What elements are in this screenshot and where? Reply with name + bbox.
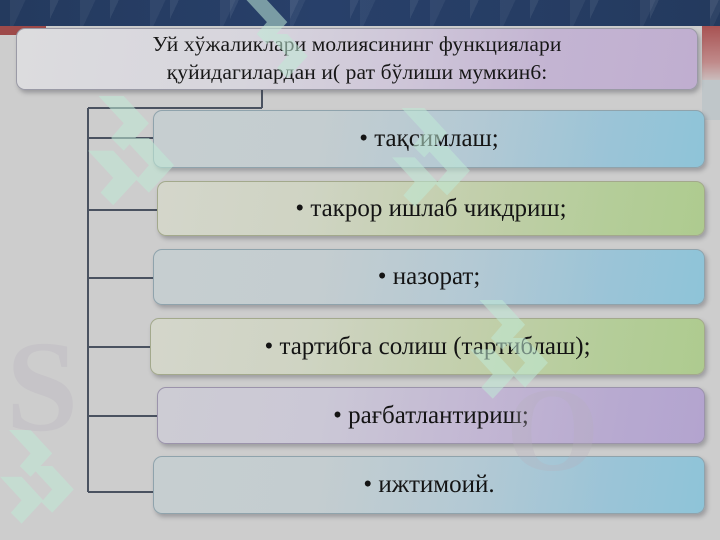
diagram-item-label-6: • ижтимоий. <box>165 471 693 499</box>
diagram-item-node-5[interactable]: • рағбатлантириш; <box>157 387 705 444</box>
diagram-item-label-5: • рағбатлантириш; <box>169 402 693 430</box>
diagram-item-node-4[interactable]: • тартибга солиш (тартиблаш); <box>150 318 705 375</box>
diagram-item-label-1: • тақсимлаш; <box>165 125 693 153</box>
diagram-title-node: Уй хўжаликлари молиясининг функциялари қ… <box>16 28 698 90</box>
diagram-item-label-4: • тартибга солиш (тартиблаш); <box>162 333 693 361</box>
diagram-item-node-1[interactable]: • тақсимлаш; <box>153 110 705 168</box>
diagram-item-label-2: • такрор ишлаб чикдриш; <box>169 195 693 223</box>
diagram-title-line-1: Уй хўжаликлари молиясининг функциялари <box>153 32 562 56</box>
diagram-title-line-2: қуйидагилардан и( рат бўлиши мумкин6: <box>167 60 548 84</box>
diagram-item-node-3[interactable]: • назорат; <box>153 249 705 305</box>
diagram-title-text: Уй хўжаликлари молиясининг функциялари қ… <box>37 31 676 87</box>
slide-canvas: Уй хўжаликлари молиясининг функциялари қ… <box>0 0 720 540</box>
diagram-item-node-6[interactable]: • ижтимоий. <box>153 456 705 514</box>
diagram-item-node-2[interactable]: • такрор ишлаб чикдриш; <box>157 181 705 236</box>
diagram-item-label-3: • назорат; <box>165 263 693 291</box>
